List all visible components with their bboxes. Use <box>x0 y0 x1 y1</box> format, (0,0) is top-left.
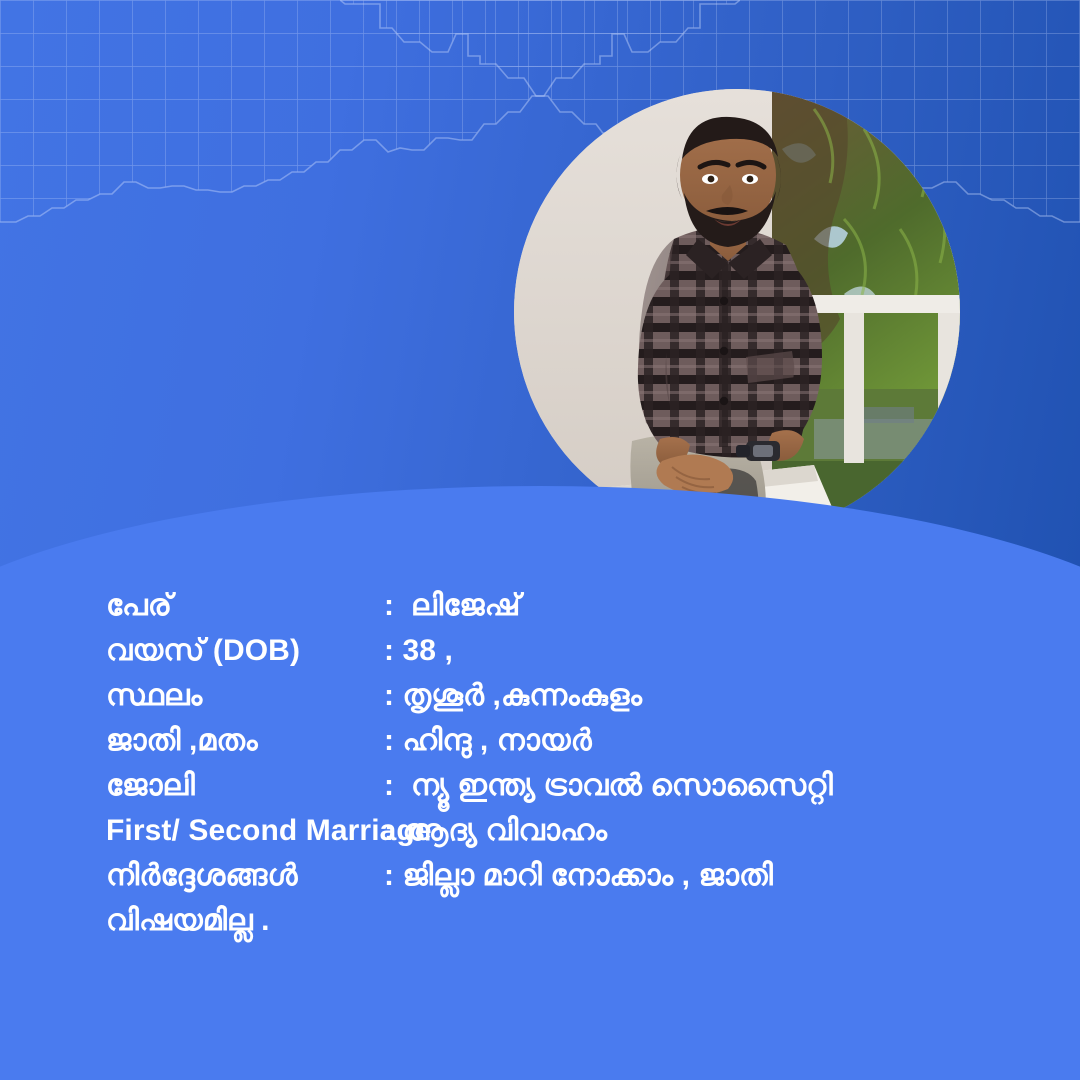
detail-label: സ്ഥലം <box>106 673 384 718</box>
detail-value: : തൃശൂർ ,കുന്നംകുളം <box>384 673 1006 718</box>
detail-row-name: പേര് : ലിജേഷ് <box>106 583 1006 628</box>
detail-label: ജാതി ,മതം <box>106 718 384 763</box>
detail-label: പേര് <box>106 583 384 628</box>
detail-value: : ജില്ലാ മാറി നോക്കാം , ജാതി <box>384 853 1006 898</box>
detail-row-caste-religion: ജാതി ,മതം : ഹിന്ദു , നായർ <box>106 718 1006 763</box>
detail-value: : 38 , <box>384 628 1006 673</box>
detail-row-preferences-continued: വിഷയമില്ല . <box>106 898 1006 943</box>
profile-details: പേര് : ലിജേഷ് വയസ് (DOB) : 38 , സ്ഥലം : … <box>106 583 1006 943</box>
detail-label: വിഷയമില്ല . <box>106 898 270 943</box>
detail-row-age: വയസ് (DOB) : 38 , <box>106 628 1006 673</box>
detail-label: First/ Second Marriage <box>106 808 384 853</box>
detail-row-marriage: First/ Second Marriage : ആദ്യ വിവാഹം <box>106 808 1006 853</box>
detail-row-preferences: നിർദ്ദേശങ്ങൾ : ജില്ലാ മാറി നോക്കാം , ജാത… <box>106 853 1006 898</box>
detail-row-place: സ്ഥലം : തൃശൂർ ,കുന്നംകുളം <box>106 673 1006 718</box>
profile-photo <box>514 89 960 535</box>
detail-value: : ലിജേഷ് <box>384 583 1006 628</box>
profile-card: പേര് : ലിജേഷ് വയസ് (DOB) : 38 , സ്ഥലം : … <box>0 0 1080 1080</box>
detail-value: : ആദ്യ വിവാഹം <box>384 808 1006 853</box>
detail-label: ജോലി <box>106 763 384 808</box>
detail-value: : ഹിന്ദു , നായർ <box>384 718 1006 763</box>
detail-value: : ന്യൂ ഇന്ത്യ ട്രാവൽ സൊസൈറ്റി <box>384 763 1006 808</box>
detail-row-job: ജോലി : ന്യൂ ഇന്ത്യ ട്രാവൽ സൊസൈറ്റി <box>106 763 1006 808</box>
detail-label: നിർദ്ദേശങ്ങൾ <box>106 853 384 898</box>
detail-label: വയസ് (DOB) <box>106 628 384 673</box>
